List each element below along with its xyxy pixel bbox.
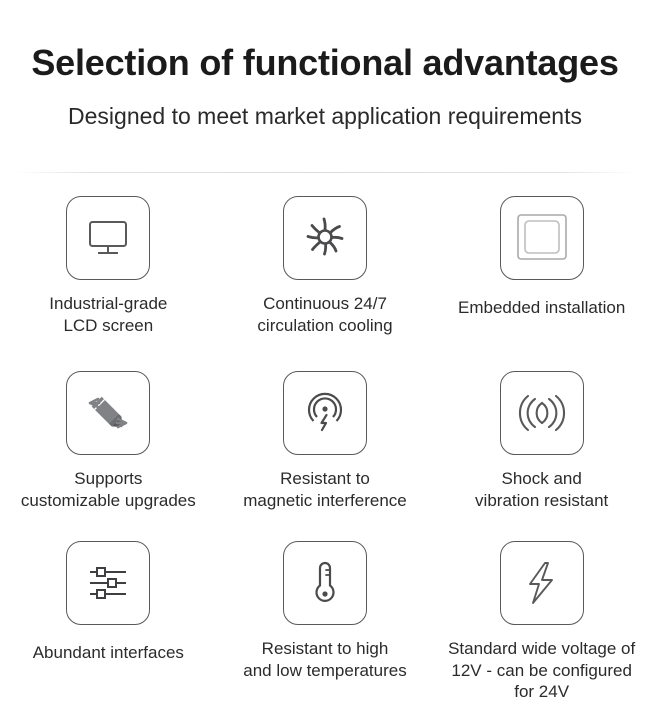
icon-tile xyxy=(500,196,584,280)
feature-card-lcd-screen: Industrial-grade LCD screen xyxy=(0,196,217,371)
page-title: Selection of functional advantages xyxy=(10,44,640,82)
page-subtitle: Designed to meet market application requ… xyxy=(10,104,640,129)
icon-tile xyxy=(500,371,584,455)
feature-caption: Continuous 24/7 circulation cooling xyxy=(257,293,392,336)
icon-tile xyxy=(283,196,367,280)
embedded-frame-icon xyxy=(514,212,570,264)
magnetic-signal-icon xyxy=(302,390,348,436)
sliders-icon xyxy=(84,562,132,604)
header-divider xyxy=(14,172,636,173)
lightning-bolt-icon xyxy=(520,558,564,608)
vibration-waves-icon xyxy=(516,393,568,433)
icon-tile xyxy=(66,196,150,280)
feature-card-temperature-resistance: Resistant to high and low temperatures xyxy=(217,541,434,703)
icon-tile xyxy=(283,371,367,455)
feature-caption: Embedded installation xyxy=(458,297,625,319)
monitor-icon xyxy=(85,217,131,259)
feature-card-cooling: Continuous 24/7 circulation cooling xyxy=(217,196,434,371)
icon-tile xyxy=(283,541,367,625)
feature-card-wide-voltage: Standard wide voltage of 12V - can be co… xyxy=(433,541,650,703)
feature-caption: Industrial-grade LCD screen xyxy=(49,293,167,336)
feature-card-shock-vibration: Shock and vibration resistant xyxy=(433,371,650,541)
page-header: Selection of functional advantages Desig… xyxy=(0,0,650,129)
feature-card-magnetic-resistance: Resistant to magnetic interference xyxy=(217,371,434,541)
feature-caption: Resistant to magnetic interference xyxy=(243,468,406,511)
icon-tile xyxy=(500,541,584,625)
feature-caption: Abundant interfaces xyxy=(33,642,184,664)
feature-caption: Shock and vibration resistant xyxy=(475,468,608,511)
feature-caption: Supports customizable upgrades xyxy=(21,468,196,511)
fan-cooling-icon xyxy=(301,214,349,262)
feature-caption: Standard wide voltage of 12V - can be co… xyxy=(448,638,635,703)
feature-card-customizable-upgrades: Supports customizable upgrades xyxy=(0,371,217,541)
feature-card-abundant-interfaces: Abundant interfaces xyxy=(0,541,217,703)
feature-card-embedded-installation: Embedded installation xyxy=(433,196,650,371)
feature-advantages-page: Selection of functional advantages Desig… xyxy=(0,0,650,728)
icon-tile xyxy=(66,371,150,455)
icon-tile xyxy=(66,541,150,625)
thermometer-icon xyxy=(307,557,343,609)
pencil-code-icon xyxy=(83,388,133,438)
feature-grid: Industrial-grade LCD screen xyxy=(0,196,650,703)
feature-caption: Resistant to high and low temperatures xyxy=(243,638,406,681)
